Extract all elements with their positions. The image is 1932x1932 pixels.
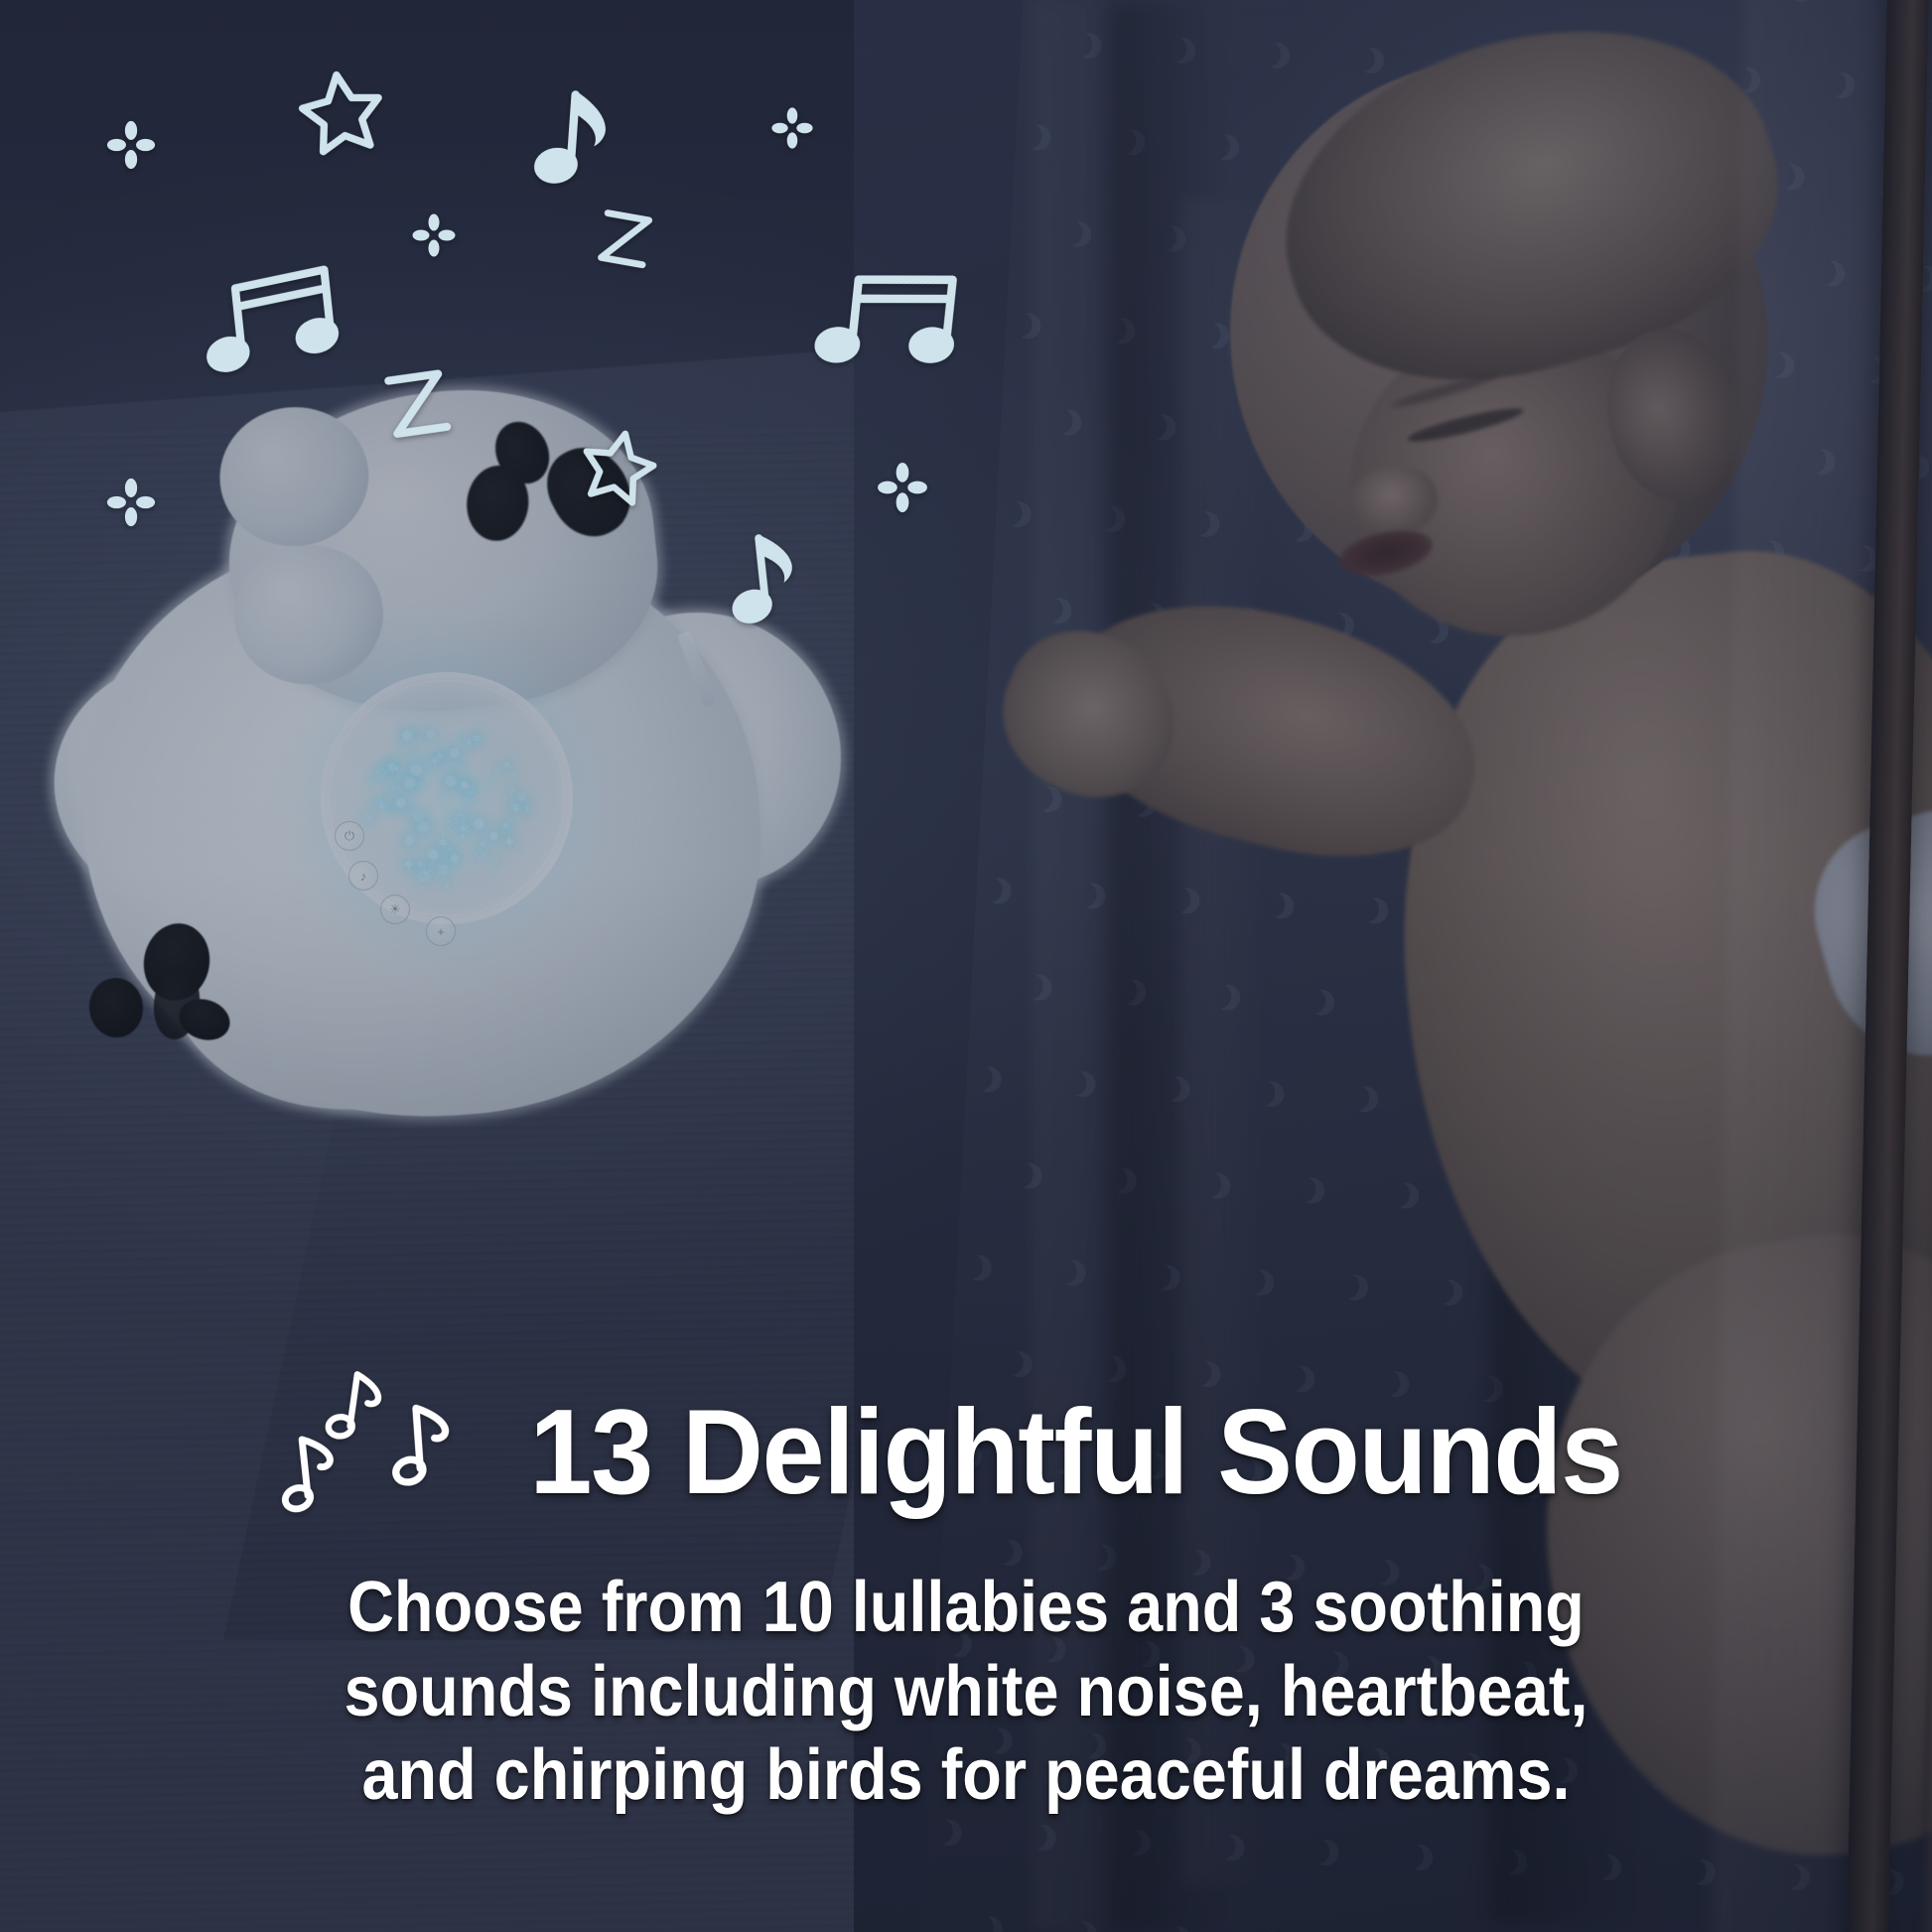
description-line: sounds including white noise, heartbeat, <box>96 1650 1835 1733</box>
projected-star: ● <box>457 732 462 740</box>
projected-star: ✹ <box>402 834 416 851</box>
projected-star: ✹ <box>399 728 415 747</box>
projected-star: ● <box>416 734 422 744</box>
projected-star: ✦ <box>502 834 517 852</box>
volume-button[interactable]: + <box>426 916 456 946</box>
projected-star: ✹ <box>424 727 438 743</box>
eighth-note-outline-icon <box>323 1362 392 1449</box>
description-line: and chirping birds for peaceful dreams. <box>96 1733 1835 1817</box>
projected-star: ● <box>502 821 508 831</box>
star-light-projector[interactable]: ●✦✵✦✶✹✵✦●●●✧✵●✶✵●✶●✵●✧✶✧✶✵✵●✹●●✹✧●✶✧✹●●✹… <box>321 672 573 924</box>
bear-ear-left <box>212 400 375 554</box>
projected-star: ✹ <box>459 779 470 792</box>
light-button[interactable]: ☀ <box>380 895 410 924</box>
description-text: Choose from 10 lullabies and 3 soothing … <box>96 1566 1835 1817</box>
projected-star: ✶ <box>427 754 441 770</box>
projected-star: ✵ <box>410 808 426 827</box>
projected-star: ● <box>460 832 465 841</box>
projected-star: ✹ <box>408 761 425 781</box>
projected-star: ✧ <box>504 784 516 798</box>
caption-block: 13 Delightful Sounds Choose from 10 lull… <box>0 1357 1932 1817</box>
projected-star: ✶ <box>464 737 475 751</box>
plush-bear-sound-machine: ●✦✵✦✶✹✵✦●●●✧✵●✶✵●✶●✵●✧✶✧✶✵✵●✹●●✹✧●✶✧✹●●✹… <box>55 382 839 1077</box>
projected-star: ✹ <box>447 745 462 762</box>
page-title: 13 Delightful Sounds <box>530 1390 1622 1513</box>
projected-star: ✦ <box>510 803 521 816</box>
projected-star: ✵ <box>416 867 433 887</box>
headline-row: 13 Delightful Sounds <box>0 1357 1932 1546</box>
projected-star: ✹ <box>487 829 500 844</box>
projected-star: ✶ <box>435 834 452 855</box>
projected-star: ● <box>493 766 499 776</box>
projected-star: ✧ <box>487 857 500 873</box>
music-note-cluster-icon <box>268 1357 477 1546</box>
product-feature-image: ●✦✵✦✶✹✵✦●●●✧✵●✶✵●✶●✵●✧✶✧✶✵✵●✹●●✹✧●✶✧✹●●✹… <box>0 0 1932 1932</box>
projected-star: ✦ <box>401 857 417 876</box>
description-line: Choose from 10 lullabies and 3 soothing <box>96 1566 1835 1649</box>
projected-star: ✹ <box>394 795 409 813</box>
projected-star: ● <box>394 764 400 774</box>
eighth-note-outline-icon <box>386 1395 460 1491</box>
projected-star: ✦ <box>375 800 387 815</box>
projected-star: ✹ <box>471 816 487 837</box>
projected-star: ● <box>512 772 517 780</box>
projected-star: ✵ <box>436 862 451 880</box>
power-button[interactable]: ⏻ <box>335 821 364 851</box>
projected-star: ● <box>444 805 448 812</box>
sound-button[interactable]: ♪ <box>348 861 378 891</box>
bear-nose <box>534 433 645 550</box>
projected-star: ● <box>428 770 432 777</box>
projected-star: ✧ <box>486 777 499 793</box>
projected-star: ● <box>441 794 446 803</box>
projected-star: ● <box>444 882 449 891</box>
